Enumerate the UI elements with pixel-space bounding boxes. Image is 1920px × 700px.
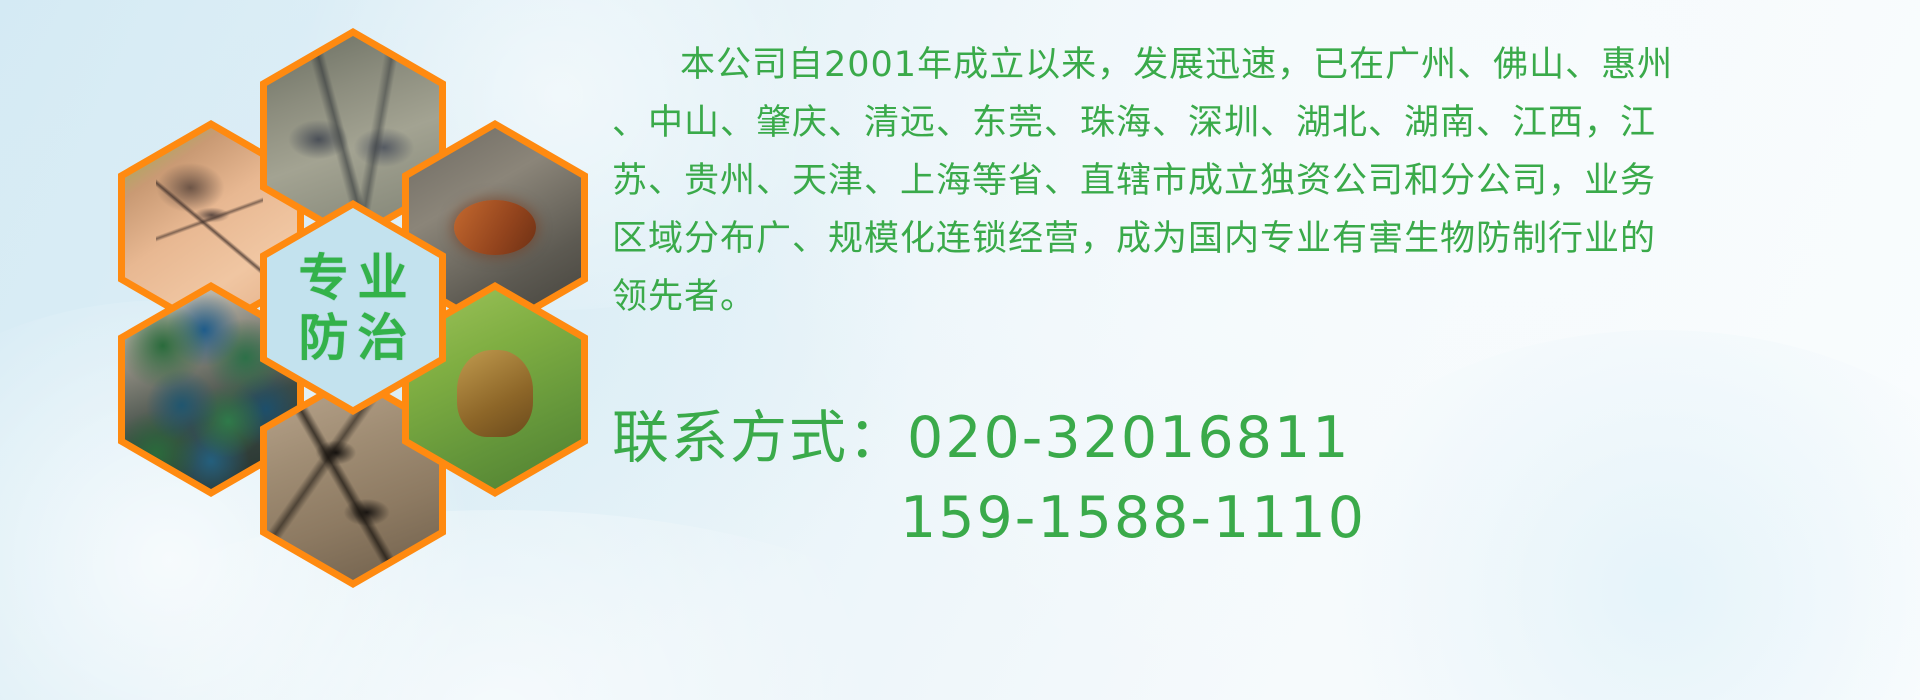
- intro-line-1: 本公司自2001年成立以来，发展迅速，已在广州、佛山、惠州: [612, 36, 1902, 94]
- intro-line-5: 领先者。: [612, 268, 1902, 326]
- logo-inner: 专业 防治: [267, 208, 439, 407]
- logo-line-2: 防治: [290, 313, 417, 363]
- intro-line-3: 苏、贵州、天津、上海等省、直辖市成立独资公司和分公司，业务: [612, 152, 1902, 210]
- intro-paragraph-block: 本公司自2001年成立以来，发展迅速，已在广州、佛山、惠州 、中山、肇庆、清远、…: [612, 36, 1902, 326]
- contact-phone-secondary[interactable]: 159-1588-1110: [612, 478, 1902, 558]
- contact-block: 联系方式：020-32016811 159-1588-1110: [612, 398, 1902, 558]
- honeycomb-photo-cluster: 专业 防治: [100, 10, 590, 570]
- intro-line-2: 、中山、肇庆、清远、东莞、珠海、深圳、湖北、湖南、江西，江: [612, 94, 1902, 152]
- intro-paragraph: 本公司自2001年成立以来，发展迅速，已在广州、佛山、惠州 、中山、肇庆、清远、…: [612, 36, 1902, 326]
- promo-banner: 专业 防治 本公司自2001年成立以来，发展迅速，已在广州、佛山、惠州 、中山、…: [0, 0, 1920, 700]
- intro-line-4: 区域分布广、规模化连锁经营，成为国内专业有害生物防制行业的: [612, 210, 1902, 268]
- logo-line-1: 专业: [290, 253, 417, 303]
- contact-phone-primary[interactable]: 联系方式：020-32016811: [612, 398, 1902, 478]
